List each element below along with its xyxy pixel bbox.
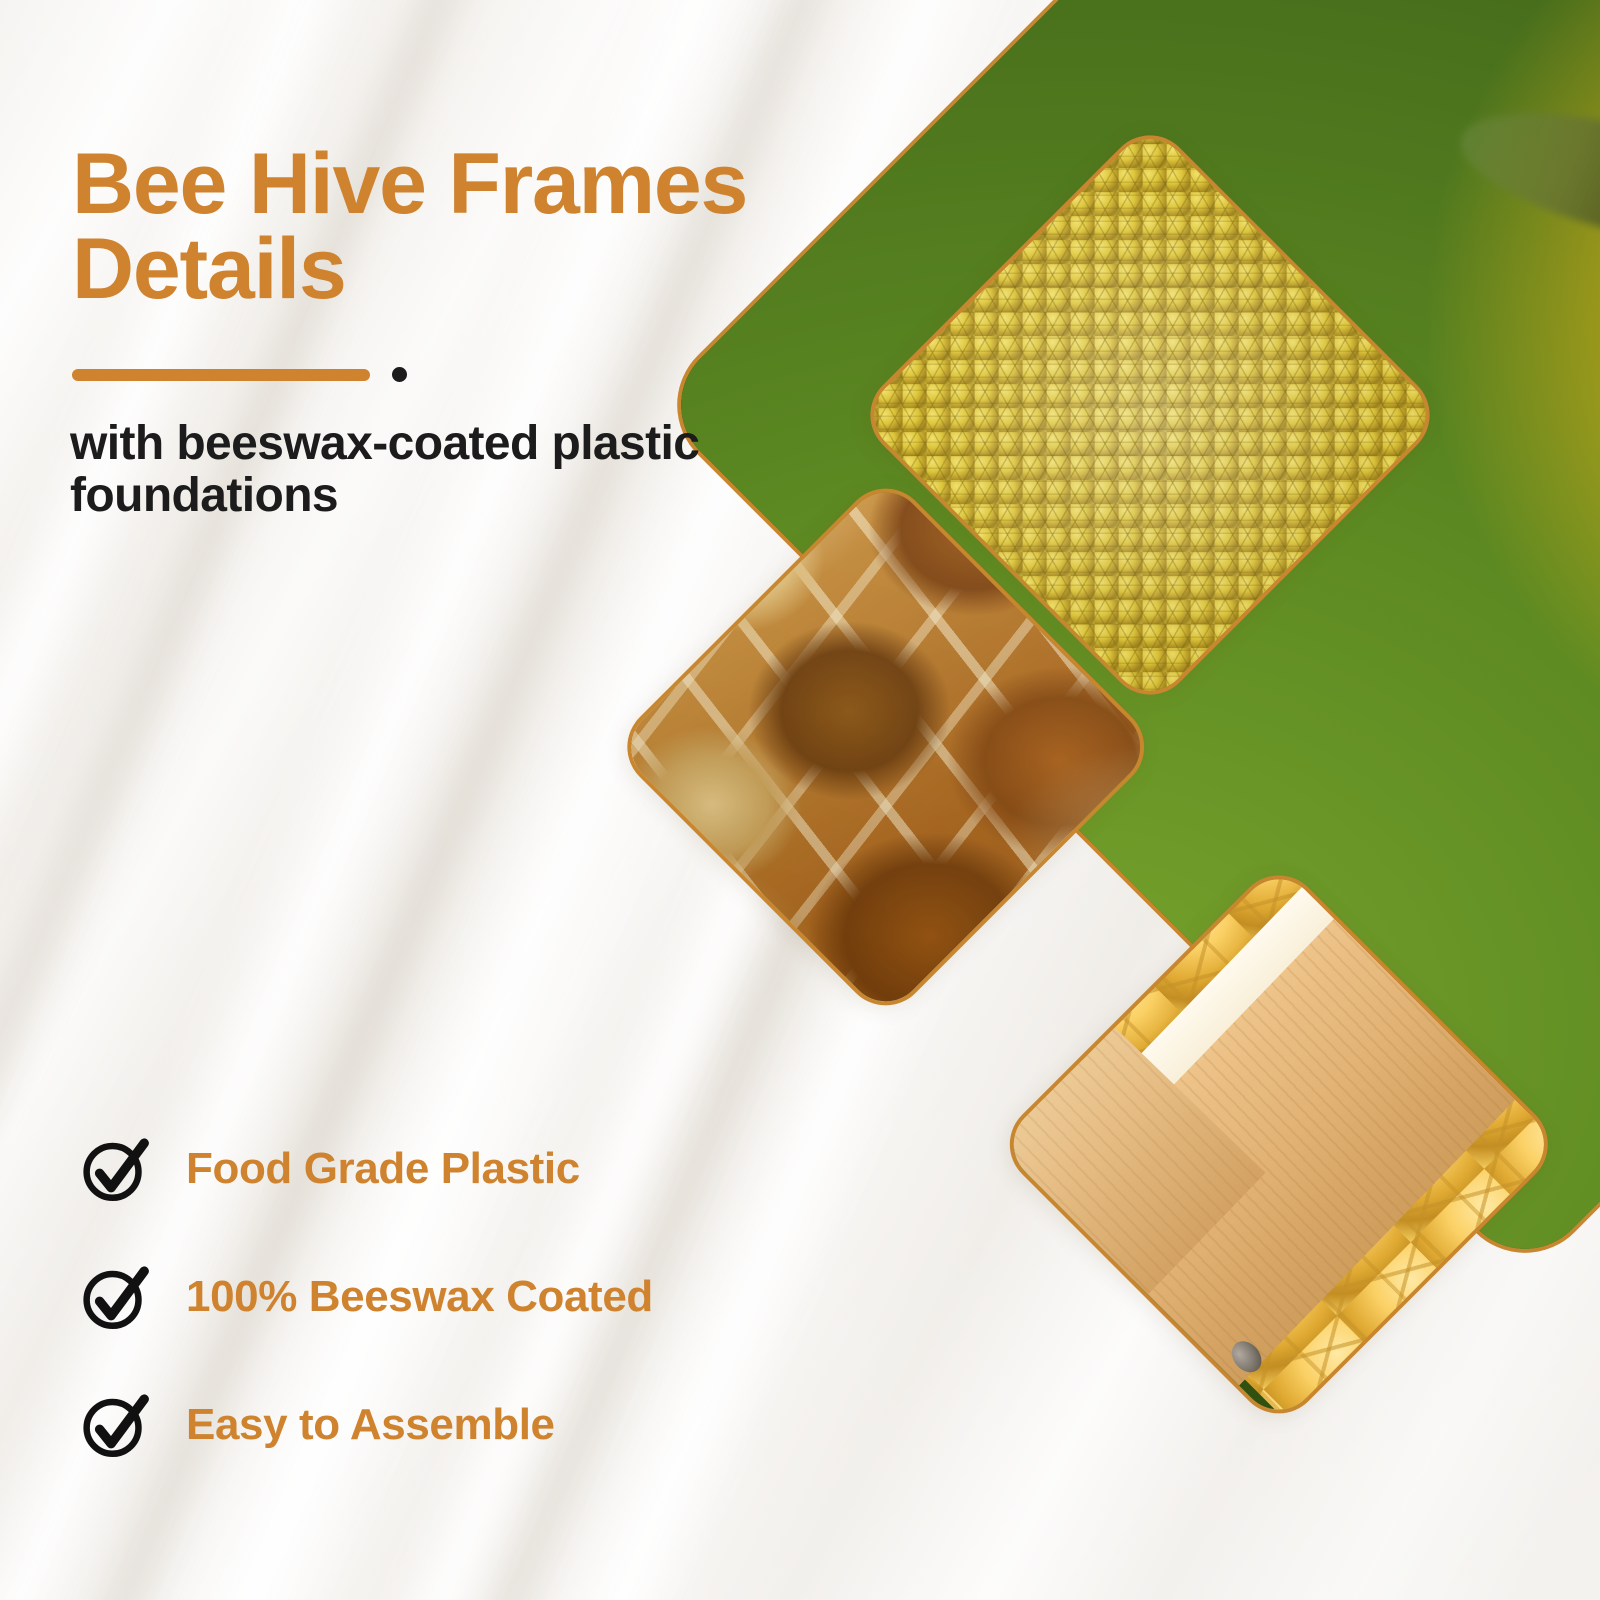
page-title: Bee Hive Frames Details [72,142,932,312]
divider-dot [392,367,407,382]
feature-label: 100% Beeswax Coated [186,1272,653,1322]
feature-label: Food Grade Plastic [186,1144,580,1194]
page-subtitle: with beeswax-coated plastic foundations [70,418,940,522]
check-circle-icon [78,1261,150,1333]
page-title-line-1: Bee Hive Frames [72,142,932,227]
infographic-canvas: Bee Hive Frames Details with beeswax-coa… [0,0,1600,1600]
check-circle-icon [78,1389,150,1461]
feature-list: Food Grade Plastic 100% Beeswax Coated E… [78,1105,838,1489]
feature-label: Easy to Assemble [186,1400,555,1450]
check-circle-icon [78,1133,150,1205]
title-divider [72,367,407,382]
page-title-line-2: Details [72,227,932,312]
feature-item: 100% Beeswax Coated [78,1233,838,1361]
bee-wing [1448,88,1600,270]
divider-bar [72,369,370,381]
feature-item: Easy to Assemble [78,1361,838,1489]
feature-item: Food Grade Plastic [78,1105,838,1233]
